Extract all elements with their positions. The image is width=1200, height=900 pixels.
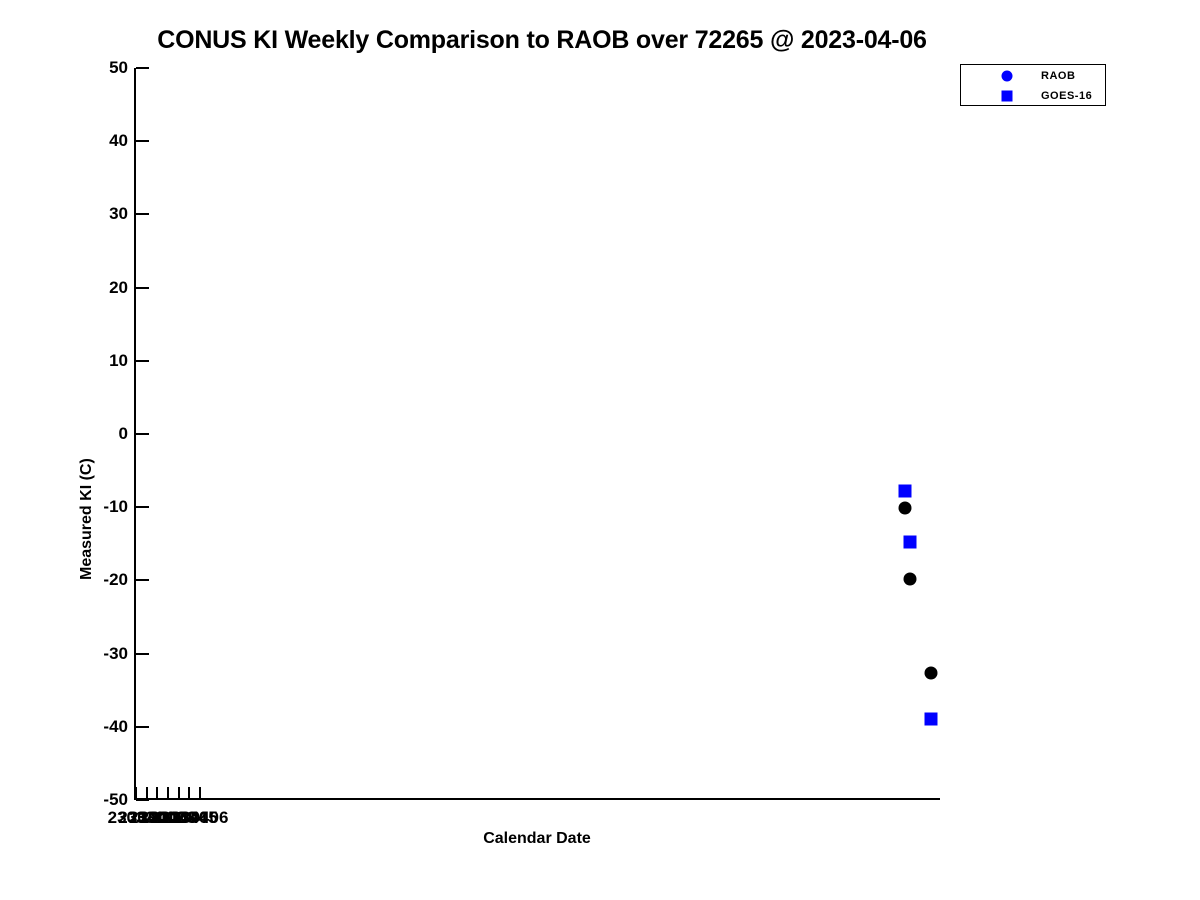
y-axis-tick-mark bbox=[136, 579, 149, 581]
y-axis-tick-mark bbox=[136, 433, 149, 435]
data-point-raob bbox=[898, 501, 911, 514]
chart-legend: RAOBGOES-16 bbox=[960, 64, 1106, 106]
legend-item-label: RAOB bbox=[1041, 70, 1075, 82]
y-axis-tick-mark bbox=[136, 287, 149, 289]
y-axis-tick-label: -30 bbox=[103, 644, 128, 664]
y-axis-tick-label: 30 bbox=[109, 204, 128, 224]
legend-item-goes-16[interactable]: GOES-16 bbox=[961, 86, 1105, 106]
y-axis-tick-mark bbox=[136, 360, 149, 362]
y-axis-title: Measured KI (C) bbox=[78, 280, 96, 580]
x-axis-tick-mark bbox=[167, 787, 169, 800]
x-axis-tick-mark bbox=[199, 787, 201, 800]
legend-circle-icon bbox=[1002, 71, 1013, 82]
y-axis-tick-mark bbox=[136, 140, 149, 142]
legend-item-label: GOES-16 bbox=[1041, 90, 1092, 102]
y-axis-tick-label: 50 bbox=[109, 58, 128, 78]
x-axis-tick-mark bbox=[146, 787, 148, 800]
chart-figure: CONUS KI Weekly Comparison to RAOB over … bbox=[0, 0, 1200, 900]
data-point-goes-16 bbox=[898, 485, 911, 498]
data-point-goes-16 bbox=[925, 712, 938, 725]
plot-area: 50403020100-10-20-30-40-5023033123040123… bbox=[134, 68, 940, 800]
x-axis-tick-label: 230406 bbox=[172, 808, 229, 828]
x-axis-title: Calendar Date bbox=[134, 830, 940, 848]
x-axis-tick-mark bbox=[188, 787, 190, 800]
chart-title: CONUS KI Weekly Comparison to RAOB over … bbox=[0, 26, 1084, 55]
y-axis-tick-label: -20 bbox=[103, 570, 128, 590]
y-axis-tick-mark bbox=[136, 506, 149, 508]
data-point-raob bbox=[925, 666, 938, 679]
x-axis-tick-mark bbox=[178, 787, 180, 800]
y-axis-tick-label: 40 bbox=[109, 131, 128, 151]
y-axis-tick-label: 10 bbox=[109, 351, 128, 371]
y-axis-tick-mark bbox=[136, 726, 149, 728]
plot-canvas bbox=[136, 68, 942, 800]
y-axis-tick-label: 20 bbox=[109, 278, 128, 298]
y-axis-tick-label: -50 bbox=[103, 790, 128, 810]
y-axis-tick-label: 0 bbox=[119, 424, 128, 444]
x-axis-tick-mark bbox=[156, 787, 158, 800]
x-axis-tick-mark bbox=[135, 787, 137, 800]
legend-square-icon bbox=[1002, 91, 1013, 102]
y-axis-tick-mark bbox=[136, 67, 149, 69]
legend-item-raob[interactable]: RAOB bbox=[961, 66, 1105, 86]
data-point-raob bbox=[903, 572, 916, 585]
data-point-goes-16 bbox=[903, 536, 916, 549]
y-axis-tick-label: -40 bbox=[103, 717, 128, 737]
y-axis-tick-label: -10 bbox=[103, 497, 128, 517]
y-axis-tick-mark bbox=[136, 213, 149, 215]
y-axis-tick-mark bbox=[136, 653, 149, 655]
